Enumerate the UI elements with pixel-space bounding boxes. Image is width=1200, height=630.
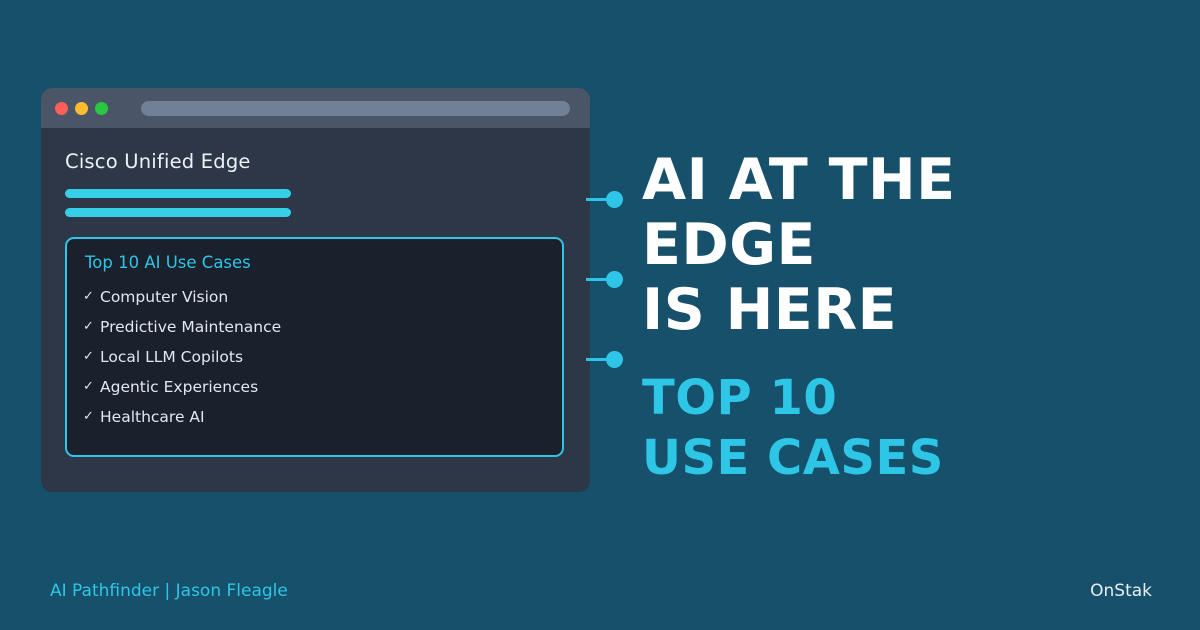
list-item-label: Computer Vision [100, 282, 228, 312]
browser-window-mockup: Cisco Unified Edge Top 10 AI Use Cases ✓… [41, 88, 590, 492]
subheadline-line-2: USE CASES [642, 428, 1162, 488]
close-window-dot[interactable] [55, 102, 68, 115]
check-icon: ✓ [83, 312, 100, 342]
connector-line-icon [586, 278, 608, 281]
maximize-window-dot[interactable] [95, 102, 108, 115]
connector-dot-2 [586, 271, 623, 288]
list-item-label: Local LLM Copilots [100, 342, 243, 372]
browser-titlebar [41, 88, 590, 128]
list-item-label: Healthcare AI [100, 402, 205, 432]
headline-line-2: EDGE [642, 213, 1162, 278]
headline-line-3: IS HERE [642, 278, 1162, 343]
connector-node-icon [606, 271, 623, 288]
list-item-label: Predictive Maintenance [100, 312, 281, 342]
subheadline-line-1: TOP 10 [642, 368, 1162, 428]
check-icon: ✓ [83, 342, 100, 372]
headline-panel: AI AT THE EDGE IS HERE TOP 10 USE CASES [642, 148, 1162, 488]
headline-line-1: AI AT THE [642, 148, 1162, 213]
minimize-window-dot[interactable] [75, 102, 88, 115]
connector-node-icon [606, 191, 623, 208]
check-icon: ✓ [83, 372, 100, 402]
footer-brand: OnStak [1090, 581, 1152, 601]
list-item: ✓ Computer Vision [83, 282, 546, 312]
connector-line-icon [586, 358, 608, 361]
connector-line-icon [586, 198, 608, 201]
list-item: ✓ Agentic Experiences [83, 372, 546, 402]
url-bar[interactable] [141, 101, 570, 116]
connector-dot-3 [586, 351, 623, 368]
list-item: ✓ Local LLM Copilots [83, 342, 546, 372]
usecase-card: Top 10 AI Use Cases ✓ Computer Vision ✓ … [65, 237, 564, 457]
list-item-label: Agentic Experiences [100, 372, 258, 402]
app-title: Cisco Unified Edge [65, 150, 566, 173]
check-icon: ✓ [83, 402, 100, 432]
connector-node-icon [606, 351, 623, 368]
footer-byline: AI Pathfinder | Jason Fleagle [50, 581, 288, 601]
skeleton-bar-1 [65, 189, 291, 198]
usecase-list: ✓ Computer Vision ✓ Predictive Maintenan… [83, 282, 546, 432]
headline: AI AT THE EDGE IS HERE [642, 148, 1162, 343]
list-item: ✓ Healthcare AI [83, 402, 546, 432]
subheadline: TOP 10 USE CASES [642, 368, 1162, 488]
check-icon: ✓ [83, 282, 100, 312]
browser-content-area: Cisco Unified Edge Top 10 AI Use Cases ✓… [41, 128, 590, 457]
list-item: ✓ Predictive Maintenance [83, 312, 546, 342]
skeleton-bar-2 [65, 208, 291, 217]
usecase-card-title: Top 10 AI Use Cases [85, 253, 546, 272]
connector-dot-1 [586, 191, 623, 208]
